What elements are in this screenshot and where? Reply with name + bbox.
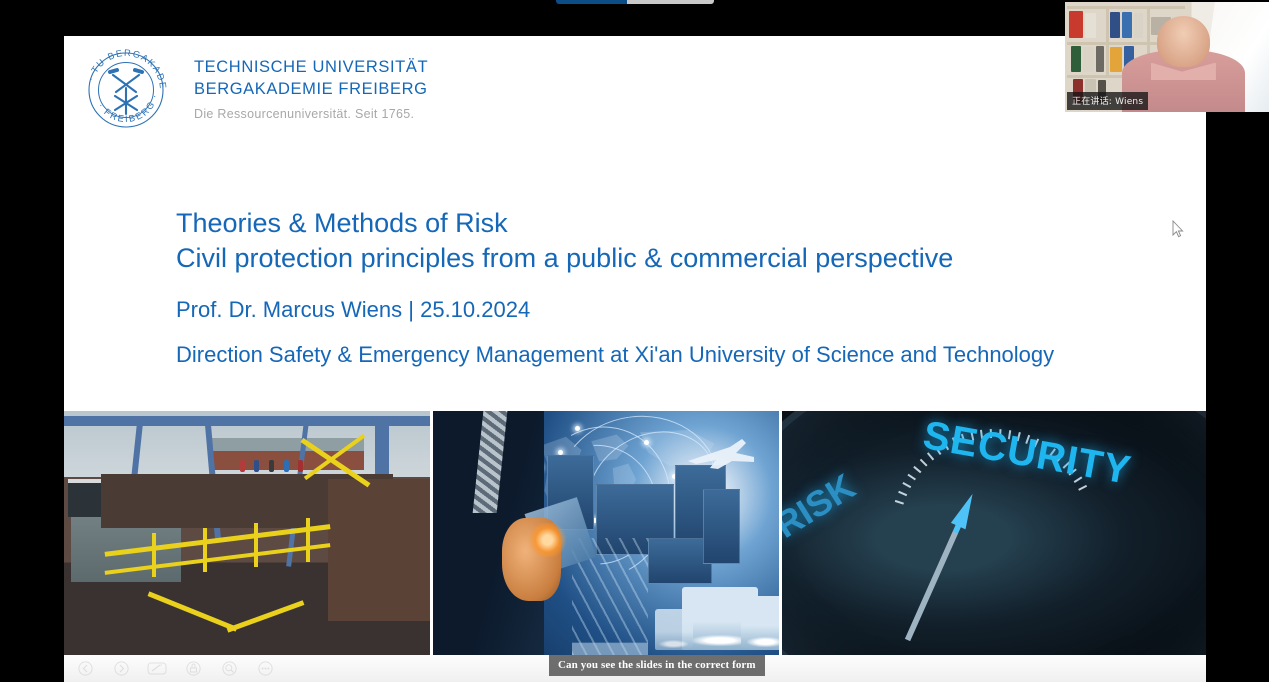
slide-title-line-1: Theories & Methods of Risk — [176, 206, 1186, 241]
lock-railing-post — [203, 528, 207, 572]
compass-tick — [920, 459, 928, 467]
previous-slide-button[interactable] — [72, 660, 98, 677]
network-node — [575, 426, 580, 431]
binder — [1122, 12, 1132, 38]
slide-image-strip: RISK SECURITY — [64, 411, 1206, 655]
slide-upper-area: · TU BERGAKADEMIE · · FREIBERG · — [64, 36, 1206, 411]
wordmark-line-2: BERGAKADEMIE FREIBERG — [194, 79, 428, 100]
binder — [1110, 12, 1120, 38]
global-logistics-photo — [433, 411, 782, 655]
compass-tick — [913, 466, 921, 473]
spotlight-button[interactable] — [216, 660, 242, 677]
compass-tick — [902, 482, 911, 488]
university-tagline: Die Ressourcenuniversität. Seit 1765. — [194, 107, 428, 121]
wordmark-line-1: TECHNISCHE UNIVERSITÄT — [194, 57, 428, 78]
binder — [1069, 11, 1083, 39]
lock-lower-railing — [147, 591, 237, 631]
live-caption: Can you see the slides in the correct fo… — [549, 655, 765, 676]
binder — [1134, 13, 1142, 38]
slide-author-line: Prof. Dr. Marcus Wiens | 25.10.2024 — [176, 297, 1186, 323]
binder — [1110, 47, 1122, 72]
person-on-walkway — [269, 460, 274, 472]
delivery-truck — [655, 609, 693, 650]
person-on-walkway — [298, 460, 303, 472]
slide-text-block: Theories & Methods of Risk Civil protect… — [176, 206, 1186, 368]
person-on-walkway — [240, 460, 245, 472]
binder — [1083, 47, 1093, 72]
lock-railing-post — [254, 523, 258, 567]
speaker-video-thumbnail[interactable]: 正在讲话: Wiens — [1065, 2, 1269, 112]
next-slide-button[interactable] — [108, 660, 134, 677]
risk-security-compass-photo: RISK SECURITY — [782, 411, 1206, 655]
svg-text:· FREIBERG ·: · FREIBERG · — [96, 92, 160, 124]
university-wordmark: TECHNISCHE UNIVERSITÄT BERGAKADEMIE FREI… — [194, 57, 428, 122]
lock-railing-post — [306, 518, 310, 562]
lock-railing-post — [152, 533, 156, 577]
more-options-button[interactable] — [252, 660, 278, 677]
lock-lower-railing — [227, 600, 304, 632]
speaker-head — [1157, 16, 1210, 67]
meeting-toolbar-edge[interactable] — [556, 0, 714, 4]
university-logo: · TU BERGAKADEMIE · · FREIBERG · — [80, 44, 428, 136]
speaker-name-label: 正在讲话: Wiens — [1067, 92, 1148, 110]
canal-lock-photo — [64, 411, 433, 655]
person-on-walkway — [284, 460, 289, 472]
lock-chamber-wall — [328, 479, 434, 621]
compass-tick — [895, 500, 904, 505]
compass-tick — [908, 474, 917, 481]
cargo-airplane-icon — [684, 435, 758, 475]
tu-freiberg-seal-icon: · TU BERGAKADEMIE · · FREIBERG · — [80, 44, 172, 136]
annotate-button[interactable] — [144, 660, 170, 677]
shared-slide: · TU BERGAKADEMIE · · FREIBERG · — [64, 36, 1206, 655]
binder — [1096, 46, 1104, 72]
orange-glow-effect — [527, 523, 569, 557]
bookshelf-plank — [1067, 6, 1185, 9]
stamp-button[interactable] — [180, 660, 206, 677]
binder — [1085, 13, 1095, 38]
binder — [1071, 46, 1081, 72]
compass-tick — [898, 491, 907, 496]
delivery-truck — [741, 596, 782, 650]
person-on-walkway — [254, 460, 259, 472]
slide-affiliation-line: Direction Safety & Emergency Management … — [176, 342, 1186, 368]
bookshelf-divider — [1106, 6, 1109, 74]
slide-title-line-2: Civil protection principles from a publi… — [176, 241, 1186, 276]
compass-star-rays — [932, 591, 1052, 655]
shipping-container — [703, 489, 740, 564]
